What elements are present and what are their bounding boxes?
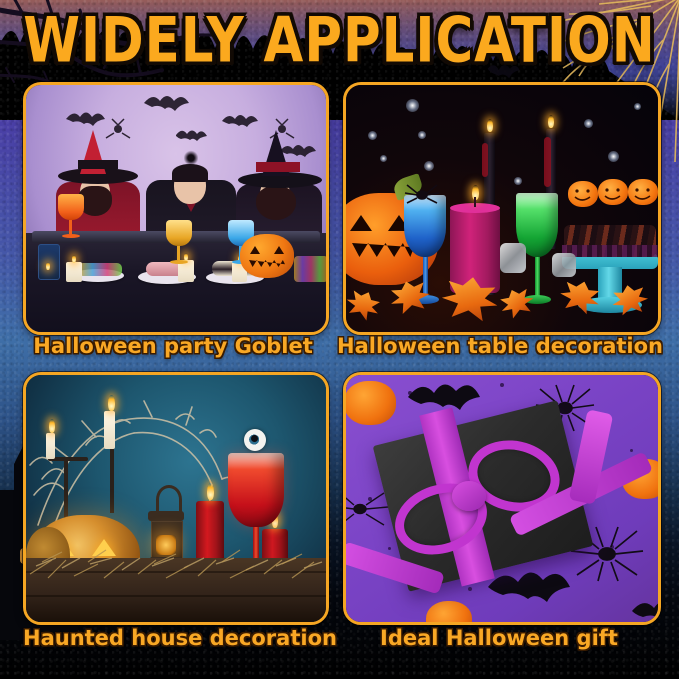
jack-o-lantern (240, 234, 294, 278)
photo-panel-haunted-house (23, 372, 329, 625)
goblet-orange (58, 194, 84, 240)
scene-table-decoration (346, 85, 658, 332)
photo-panel-halloween-party (23, 82, 329, 335)
mini-pumpkin-top-left (346, 381, 396, 425)
poster-canvas: WIDELY APPLICATION (0, 0, 679, 679)
scene-party (26, 85, 326, 332)
scene-gift (346, 375, 658, 622)
caption-halloween-party-goblet: Halloween party Goblet (23, 334, 323, 358)
caption-haunted-house-decoration: Haunted house decoration (23, 626, 323, 650)
scene-haunted-house (26, 375, 326, 622)
page-title: WIDELY APPLICATION (10, 6, 669, 77)
photo-panel-table-decoration (343, 82, 661, 335)
goblet-gold (166, 220, 192, 266)
caption-halloween-table-decoration: Halloween table decoration (337, 334, 661, 358)
photo-panel-halloween-gift (343, 372, 661, 625)
caption-ideal-halloween-gift: Ideal Halloween gift (343, 626, 655, 650)
